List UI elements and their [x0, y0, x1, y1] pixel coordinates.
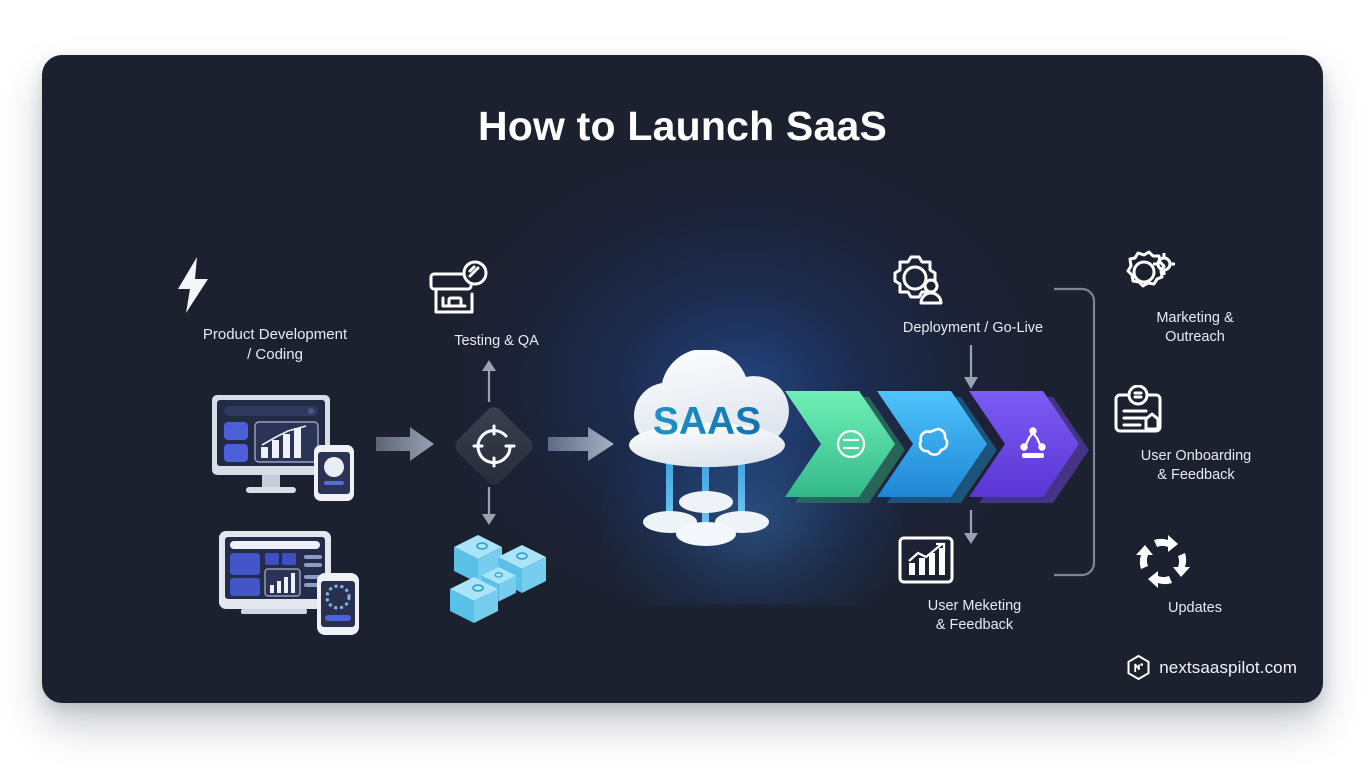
- saas-cloud-label: SAAS: [653, 400, 761, 443]
- connector-arrow-up-testing: [478, 358, 500, 402]
- gears-icon: [1120, 247, 1270, 299]
- page-title: How to Launch SaaS: [42, 103, 1323, 150]
- right-bracket-connector: [1052, 287, 1098, 577]
- connector-arrow-deployment: [960, 345, 982, 391]
- refresh-circle-arrows-icon: [1134, 533, 1256, 589]
- chevron-stage-group: [777, 385, 1097, 515]
- browser-window-check-icon: [424, 260, 569, 322]
- node-product-development-label: Product Development / Coding: [170, 325, 380, 365]
- node-testing-qa: Testing & QA: [424, 260, 569, 351]
- gear-user-icon: [888, 253, 1058, 309]
- infographic-card: How to Launch SaaS Product Development /…: [42, 55, 1323, 703]
- node-updates-label: Updates: [1134, 599, 1256, 618]
- footer-brand-label: nextsaaspilot.com: [1159, 658, 1297, 678]
- id-card-icon: [1110, 385, 1282, 437]
- node-user-marketing: User Meketing & Feedback: [897, 535, 1052, 636]
- node-marketing-outreach-label: Marketing & Outreach: [1120, 309, 1270, 348]
- lightning-bolt-icon: [170, 255, 380, 315]
- flow-arrow-1: [374, 423, 436, 465]
- node-user-onboarding-label: User Onboarding & Feedback: [1110, 447, 1282, 486]
- node-deployment-label: Deployment / Go-Live: [888, 319, 1058, 338]
- screenshot-root: How to Launch SaaS Product Development /…: [0, 0, 1365, 768]
- node-user-onboarding: User Onboarding & Feedback: [1110, 385, 1282, 486]
- desktop-monitor-and-phone: [210, 393, 370, 503]
- node-testing-qa-label: Testing & QA: [424, 332, 569, 351]
- node-product-development: Product Development / Coding: [170, 255, 380, 365]
- node-marketing-outreach: Marketing & Outreach: [1120, 247, 1270, 348]
- center-process-node: [448, 400, 540, 492]
- node-user-marketing-label: User Meketing & Feedback: [897, 597, 1052, 636]
- hexagon-logo-icon: [1127, 655, 1150, 681]
- footer-brand[interactable]: nextsaaspilot.com: [1127, 655, 1297, 681]
- isometric-cubes: [446, 517, 556, 627]
- node-deployment: Deployment / Go-Live: [888, 253, 1058, 338]
- node-updates: Updates: [1134, 533, 1256, 618]
- tablet-and-phone-dashboard: [217, 527, 372, 639]
- saas-cloud: SAAS: [602, 350, 817, 550]
- bar-chart-growth-icon: [897, 535, 1052, 587]
